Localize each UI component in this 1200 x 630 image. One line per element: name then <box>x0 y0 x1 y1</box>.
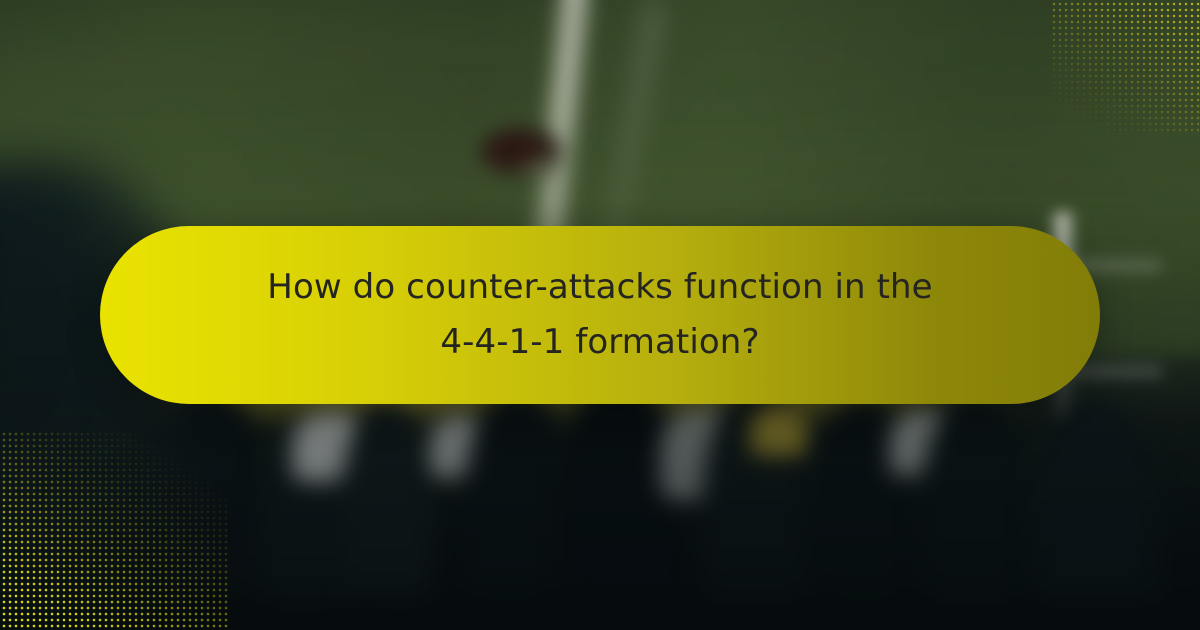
page-title: How do counter-attacks function in the 4… <box>267 260 932 370</box>
question-line-2: 4-4-1-1 formation? <box>440 322 759 362</box>
question-pill: How do counter-attacks function in the 4… <box>100 226 1100 404</box>
question-card: How do counter-attacks function in the 4… <box>0 0 1200 630</box>
question-line-1: How do counter-attacks function in the <box>267 267 932 307</box>
